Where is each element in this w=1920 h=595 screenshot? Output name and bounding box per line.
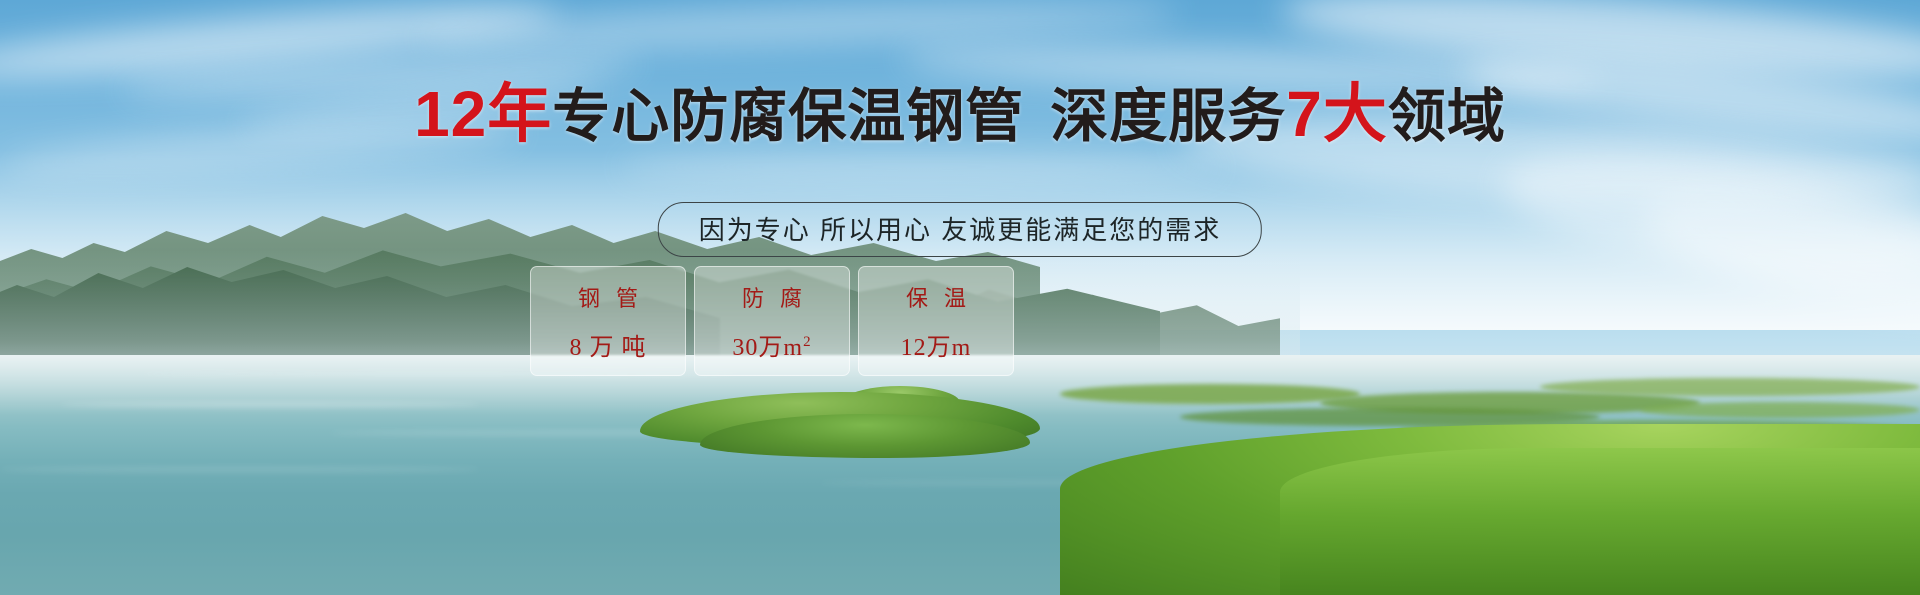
headline-years: 12年 [414,78,552,150]
banner-headline: 12年专心防腐保温钢管深度服务7大领域 [0,82,1920,146]
stat-card-steel-pipe[interactable]: 钢 管 8 万 吨 [530,266,686,376]
stat-value-unit-sup: 2 [803,334,812,350]
stat-card-value: 30万m2 [732,327,811,362]
hero-banner: 12年专心防腐保温钢管深度服务7大领域 因为专心 所以用心 友诚更能满足您的需求… [0,0,1920,595]
stat-value-text: 30万m [732,335,803,361]
stat-card-value: 12万m [901,327,972,362]
water-ripple [60,402,480,407]
stat-card-title: 防 腐 [737,281,807,313]
stat-value-text: 12万m [901,335,972,361]
banner-subtitle: 因为专心 所以用心 友诚更能满足您的需求 [658,202,1262,257]
stat-card-insulation[interactable]: 保 温 12万m [858,266,1014,376]
stat-card-title: 钢 管 [573,281,643,313]
marsh-grass [1540,378,1920,396]
stat-card-anticorrosion[interactable]: 防 腐 30万m2 [694,266,850,376]
headline-main: 专心防腐保温钢管 [552,84,1024,149]
foreground-grassland-front [1280,448,1920,595]
marsh-grass [1060,384,1360,404]
headline-service: 深度服务 [1050,84,1286,149]
stat-card-title: 保 温 [901,281,971,313]
headline-seven: 7大 [1286,78,1388,150]
stat-card-value: 8 万 吨 [570,327,647,362]
headline-fields: 领域 [1388,84,1506,149]
stat-card-group: 钢 管 8 万 吨 防 腐 30万m2 保 温 12万m [530,266,1014,376]
stat-value-text: 8 万 吨 [570,335,647,361]
marsh-grass [1640,402,1920,418]
water-ripple [0,466,480,473]
